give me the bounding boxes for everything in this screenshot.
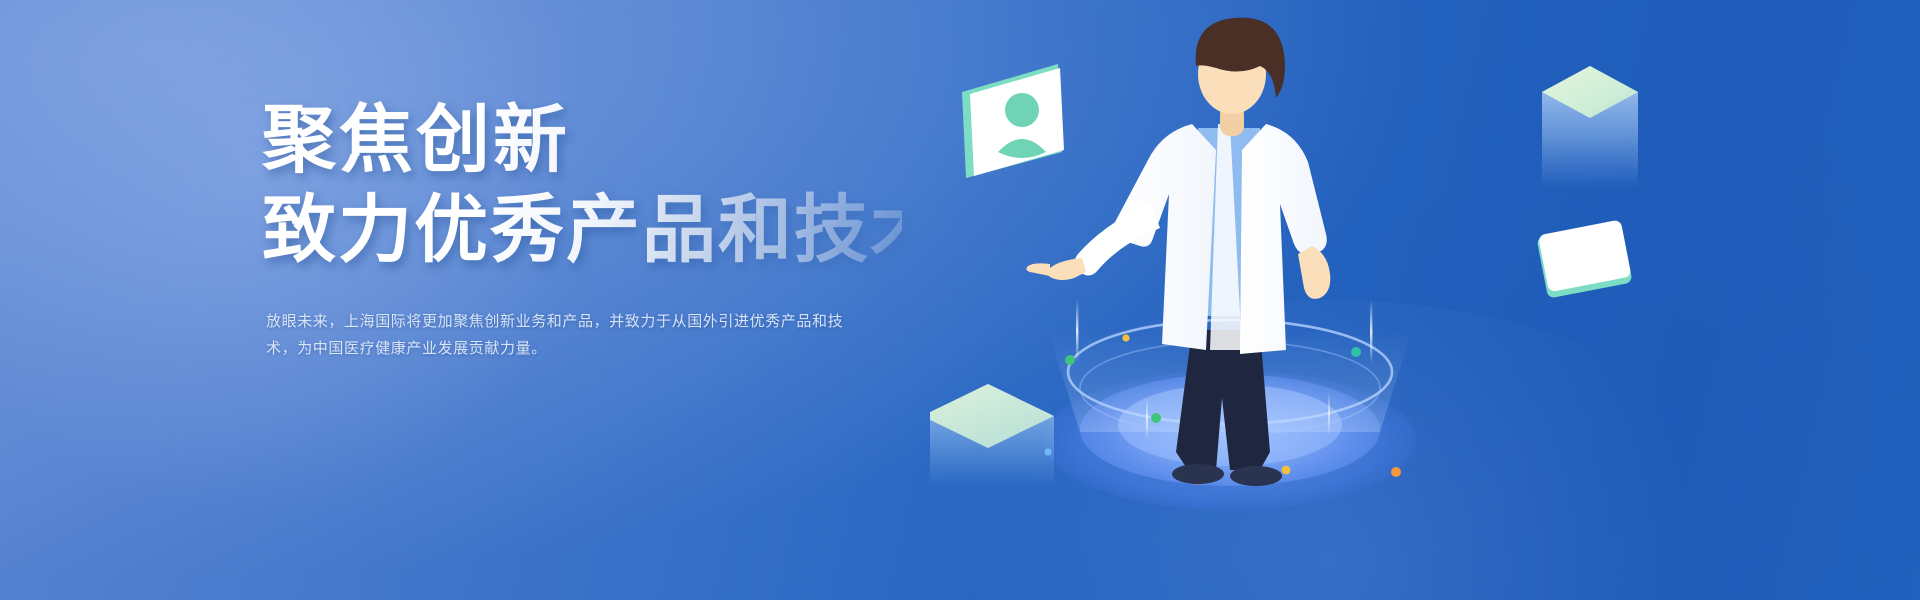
hero-banner: 聚焦创新 致力优秀产品和技术 放眼未来，上海国际将更加聚焦创新业务和产品，并致力… <box>0 0 1920 600</box>
headline-line-2: 致力优秀产品和技术 <box>262 186 902 274</box>
floating-card-right <box>1536 219 1633 298</box>
floating-profile-card <box>962 64 1064 178</box>
iso-pillar-left <box>930 384 1054 486</box>
iso-pillar-right <box>1542 66 1638 188</box>
banner-subtitle: 放眼未来，上海国际将更加聚焦创新业务和产品，并致力于从国外引进优秀产品和技术，为… <box>266 308 856 362</box>
hero-illustration <box>930 0 1790 600</box>
banner-copy: 聚焦创新 致力优秀产品和技术 放眼未来，上海国际将更加聚焦创新业务和产品，并致力… <box>262 96 902 362</box>
headline-line-1: 聚焦创新 <box>262 96 902 184</box>
